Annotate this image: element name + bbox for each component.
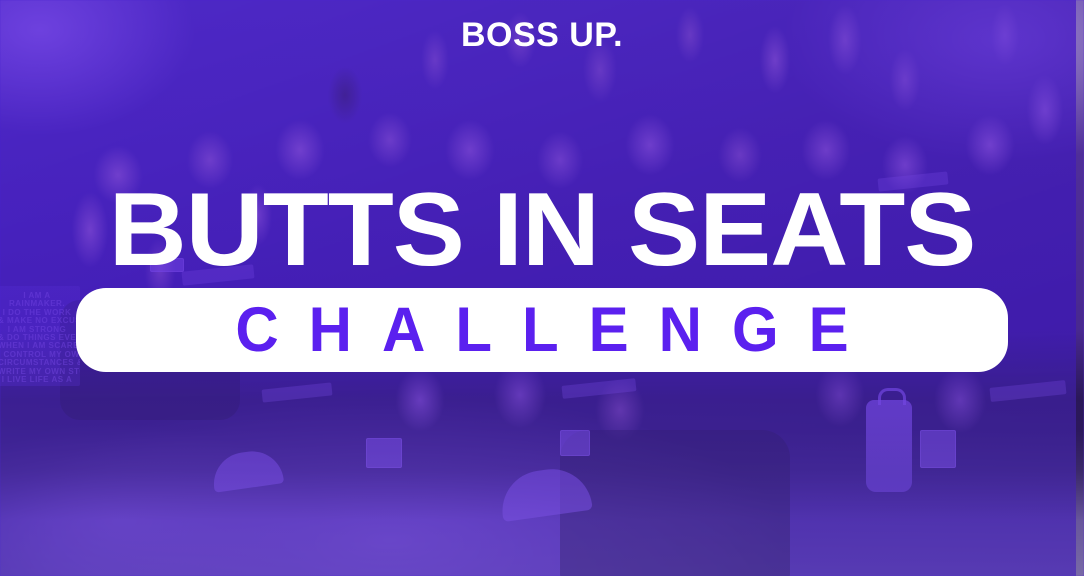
hero-content: BOSS UP. BUTTS IN SEATS CHALLENGE [0,0,1084,576]
page-title: BUTTS IN SEATS [0,183,1084,279]
challenge-banner-label: CHALLENGE [205,299,878,362]
hero-banner: I AM A RAINMAKER. I DO THE WORK & MAKE N… [0,0,1084,576]
challenge-banner: CHALLENGE [76,288,1008,372]
eyebrow-text: BOSS UP. [0,18,1084,52]
